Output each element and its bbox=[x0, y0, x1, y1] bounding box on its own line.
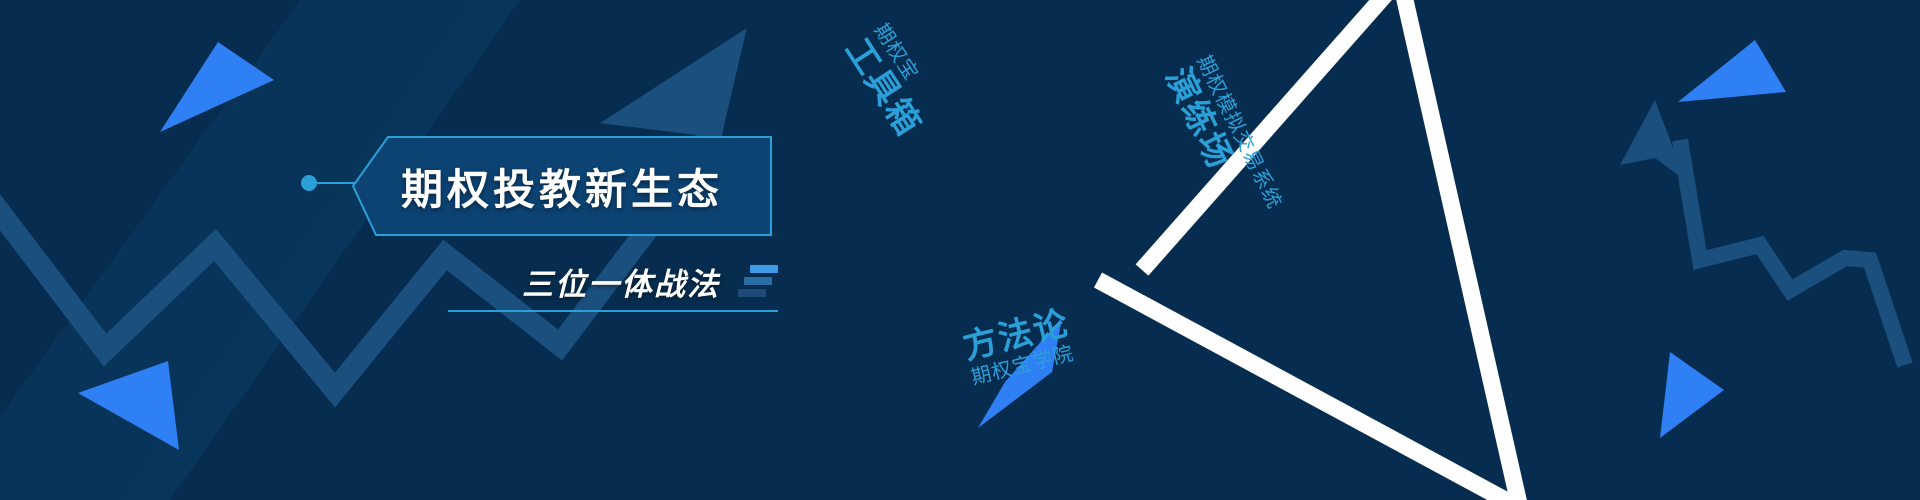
subtitle-row: 三位一体战法 bbox=[448, 258, 778, 304]
triangle-diagram: 期权宝 工具箱 期权模拟交易系统 演练场 方法论 期权宝学院 bbox=[760, 0, 1920, 500]
connector-dot-icon bbox=[301, 175, 317, 191]
page-title: 期权投教新生态 bbox=[352, 136, 772, 236]
subtitle-underline bbox=[448, 310, 778, 312]
triangle-outline bbox=[760, 0, 1920, 500]
promo-banner: 期权投教新生态 三位一体战法 期权宝 工具箱 期权模拟交易系统 演练场 bbox=[0, 0, 1920, 500]
title-plate: 期权投教新生态 bbox=[352, 136, 772, 236]
subtitle-text: 三位一体战法 bbox=[522, 259, 720, 304]
triangle-path bbox=[1098, 0, 1520, 500]
subtitle-block: 三位一体战法 bbox=[448, 258, 778, 320]
